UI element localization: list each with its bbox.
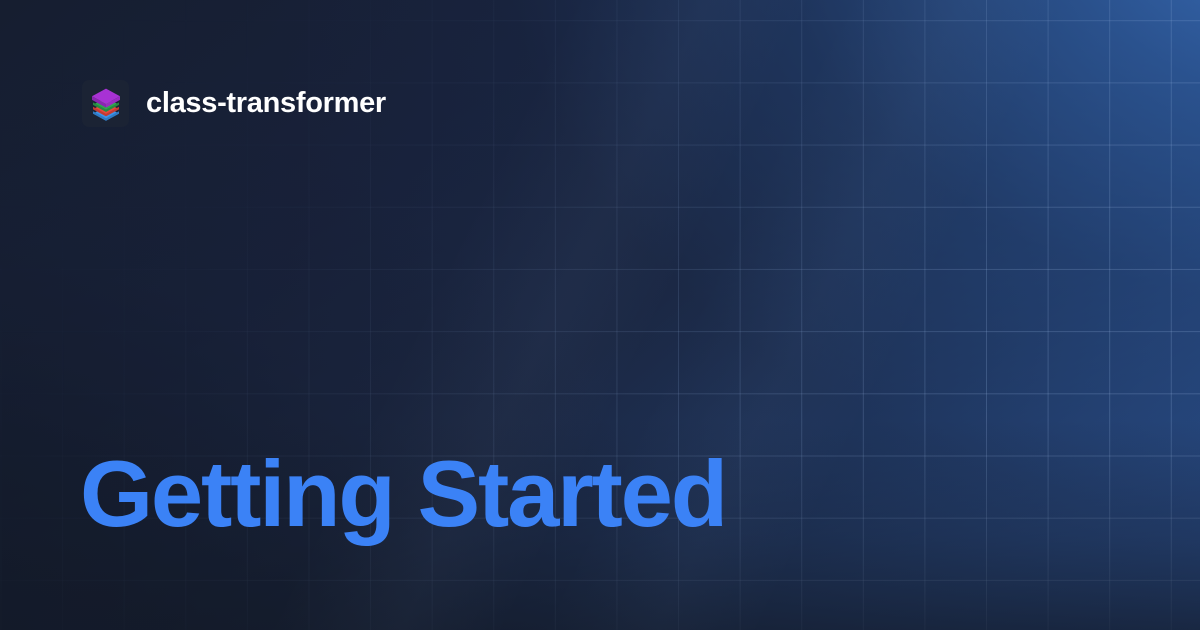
og-card: class-transformer Getting Started [0, 0, 1200, 630]
brand-name: class-transformer [146, 89, 386, 118]
stacked-layers-icon [88, 86, 124, 122]
brand-header: class-transformer [82, 80, 386, 127]
brand-logo-badge [82, 80, 129, 127]
page-title: Getting Started [80, 443, 726, 545]
